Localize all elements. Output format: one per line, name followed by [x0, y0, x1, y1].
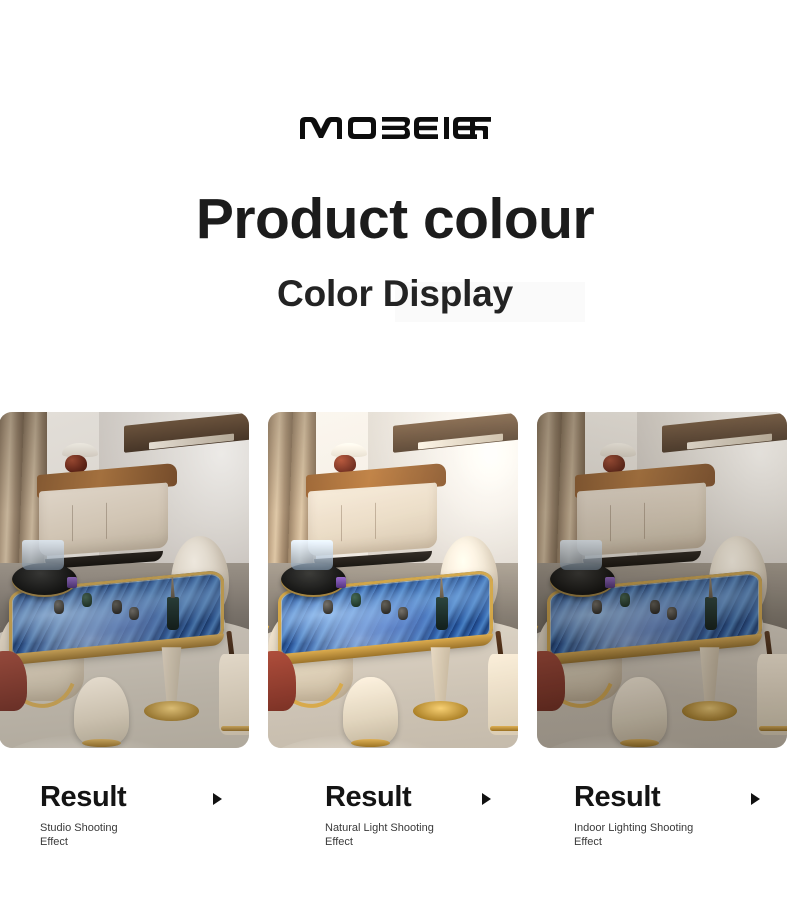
cabinet-seam — [73, 504, 74, 540]
product-photo-studio[interactable] — [0, 412, 249, 748]
glass-tea-set — [560, 540, 603, 570]
result-label: Result — [574, 780, 660, 814]
tea-cup — [351, 593, 361, 606]
cream-ottoman — [74, 677, 129, 744]
cream-ottoman — [343, 677, 398, 744]
result-header: Result — [574, 780, 788, 814]
mobeier-wordmark-icon — [298, 115, 492, 141]
product-image-gallery — [0, 412, 790, 748]
side-cabinet — [757, 654, 787, 735]
purple-accessory — [336, 577, 346, 588]
product-photo-indoor-lighting[interactable] — [537, 412, 787, 748]
product-photo-natural-light[interactable] — [268, 412, 518, 748]
tea-cup — [381, 600, 391, 613]
side-cabinet — [488, 654, 518, 735]
triangle-right-icon[interactable] — [482, 793, 491, 805]
purple-accessory — [605, 577, 615, 588]
result-label: Result — [40, 780, 126, 814]
result-label: Result — [325, 780, 411, 814]
brush-pot — [436, 597, 449, 631]
table-gold-base — [144, 701, 199, 721]
tea-cup — [398, 607, 408, 620]
cabinet-seam — [611, 504, 612, 540]
tea-cup — [650, 600, 660, 613]
tea-cup — [667, 607, 677, 620]
interior-scene — [537, 412, 787, 748]
product-colour-page: { "brand": { "name": "MOBEIER", "logo_ic… — [0, 0, 790, 922]
glass-tea-set — [22, 540, 65, 570]
cabinet-seam — [342, 504, 343, 540]
triangle-right-icon[interactable] — [213, 793, 222, 805]
caption-natural-light: Result Natural Light Shooting Effect — [269, 780, 519, 870]
result-header: Result — [40, 780, 250, 814]
table-gold-base — [682, 701, 737, 721]
tea-cup — [82, 593, 92, 606]
interior-scene — [268, 412, 518, 748]
caption-description: Indoor Lighting Shooting Effect — [574, 822, 754, 849]
glass-tea-set — [291, 540, 334, 570]
cabinet-seam — [106, 502, 107, 538]
cream-ottoman — [612, 677, 667, 744]
triangle-right-icon[interactable] — [751, 793, 760, 805]
caption-studio: Result Studio Shooting Effect — [0, 780, 250, 870]
caption-description: Natural Light Shooting Effect — [325, 822, 505, 849]
tea-cup — [592, 600, 602, 613]
tea-cup — [54, 600, 64, 613]
tea-cup — [323, 600, 333, 613]
caption-indoor-lighting: Result Indoor Lighting Shooting Effect — [538, 780, 788, 870]
page-subtitle: Color Display — [0, 272, 790, 316]
table-gold-base — [413, 701, 468, 721]
tea-cup — [620, 593, 630, 606]
brush-pot — [705, 597, 718, 631]
page-title: Product colour — [0, 186, 790, 252]
tea-cup — [112, 600, 122, 613]
purple-accessory — [67, 577, 77, 588]
cabinet-seam — [375, 502, 376, 538]
caption-description: Studio Shooting Effect — [40, 822, 220, 849]
side-cabinet — [219, 654, 249, 735]
brush-pot — [167, 597, 180, 631]
tea-cup — [129, 607, 139, 620]
result-header: Result — [325, 780, 519, 814]
brand-logo-wrap — [0, 110, 790, 146]
interior-scene — [0, 412, 249, 748]
caption-row: Result Studio Shooting Effect Result Nat… — [0, 780, 790, 870]
cabinet-seam — [644, 502, 645, 538]
